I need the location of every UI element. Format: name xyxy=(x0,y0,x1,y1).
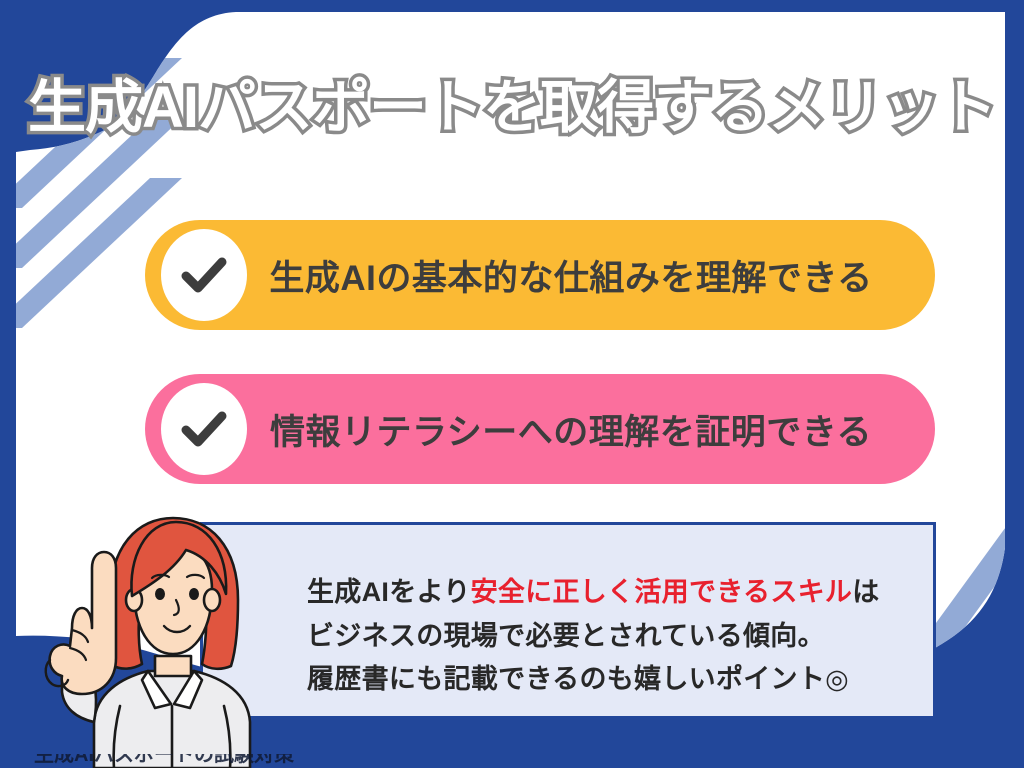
check-icon xyxy=(178,249,230,301)
pointing-woman-illustration xyxy=(24,508,314,768)
benefit-label-1: 生成AIの基本的な仕組みを理解できる xyxy=(247,250,935,301)
bottom-cutoff-strip: 生成AIパスポートの試験対策 xyxy=(0,754,1024,768)
check-badge-1 xyxy=(161,229,247,321)
ear-right xyxy=(204,589,220,611)
benefit-pill-1: 生成AIの基本的な仕組みを理解できる xyxy=(145,220,935,330)
note-line1-prefix: 生成AIをより xyxy=(307,577,471,607)
benefit-label-2: 情報リテラシーへの理解を証明できる xyxy=(247,404,935,455)
note-line-1: 生成AIをより安全に正しく活用できるスキルは xyxy=(307,571,880,615)
page-title: 生成AIパスポートを取得するメリット xyxy=(0,78,1024,139)
neck xyxy=(155,656,191,676)
bottom-strip-text: 生成AIパスポートの試験対策 xyxy=(34,754,294,767)
check-icon xyxy=(178,403,230,455)
hand xyxy=(50,552,116,694)
note-line1-suffix: は xyxy=(852,577,879,607)
check-badge-2 xyxy=(161,383,247,475)
note-line-2: ビジネスの現場で必要とされている傾向。 xyxy=(307,615,880,659)
eye-right xyxy=(189,588,199,600)
note-line-3: 履歴書にも記載できるのも嬉しいポイント◎ xyxy=(307,658,880,702)
infographic-slide: 生成AIパスポートを取得するメリット 生成AIの基本的な仕組みを理解できる 情報… xyxy=(0,0,1024,768)
note-line1-highlight: 安全に正しく活用できるスキル xyxy=(471,577,853,607)
eye-left xyxy=(155,588,165,600)
note-text: 生成AIをより安全に正しく活用できるスキルは ビジネスの現場で必要とされている傾… xyxy=(307,571,880,702)
benefit-pill-2: 情報リテラシーへの理解を証明できる xyxy=(145,374,935,484)
